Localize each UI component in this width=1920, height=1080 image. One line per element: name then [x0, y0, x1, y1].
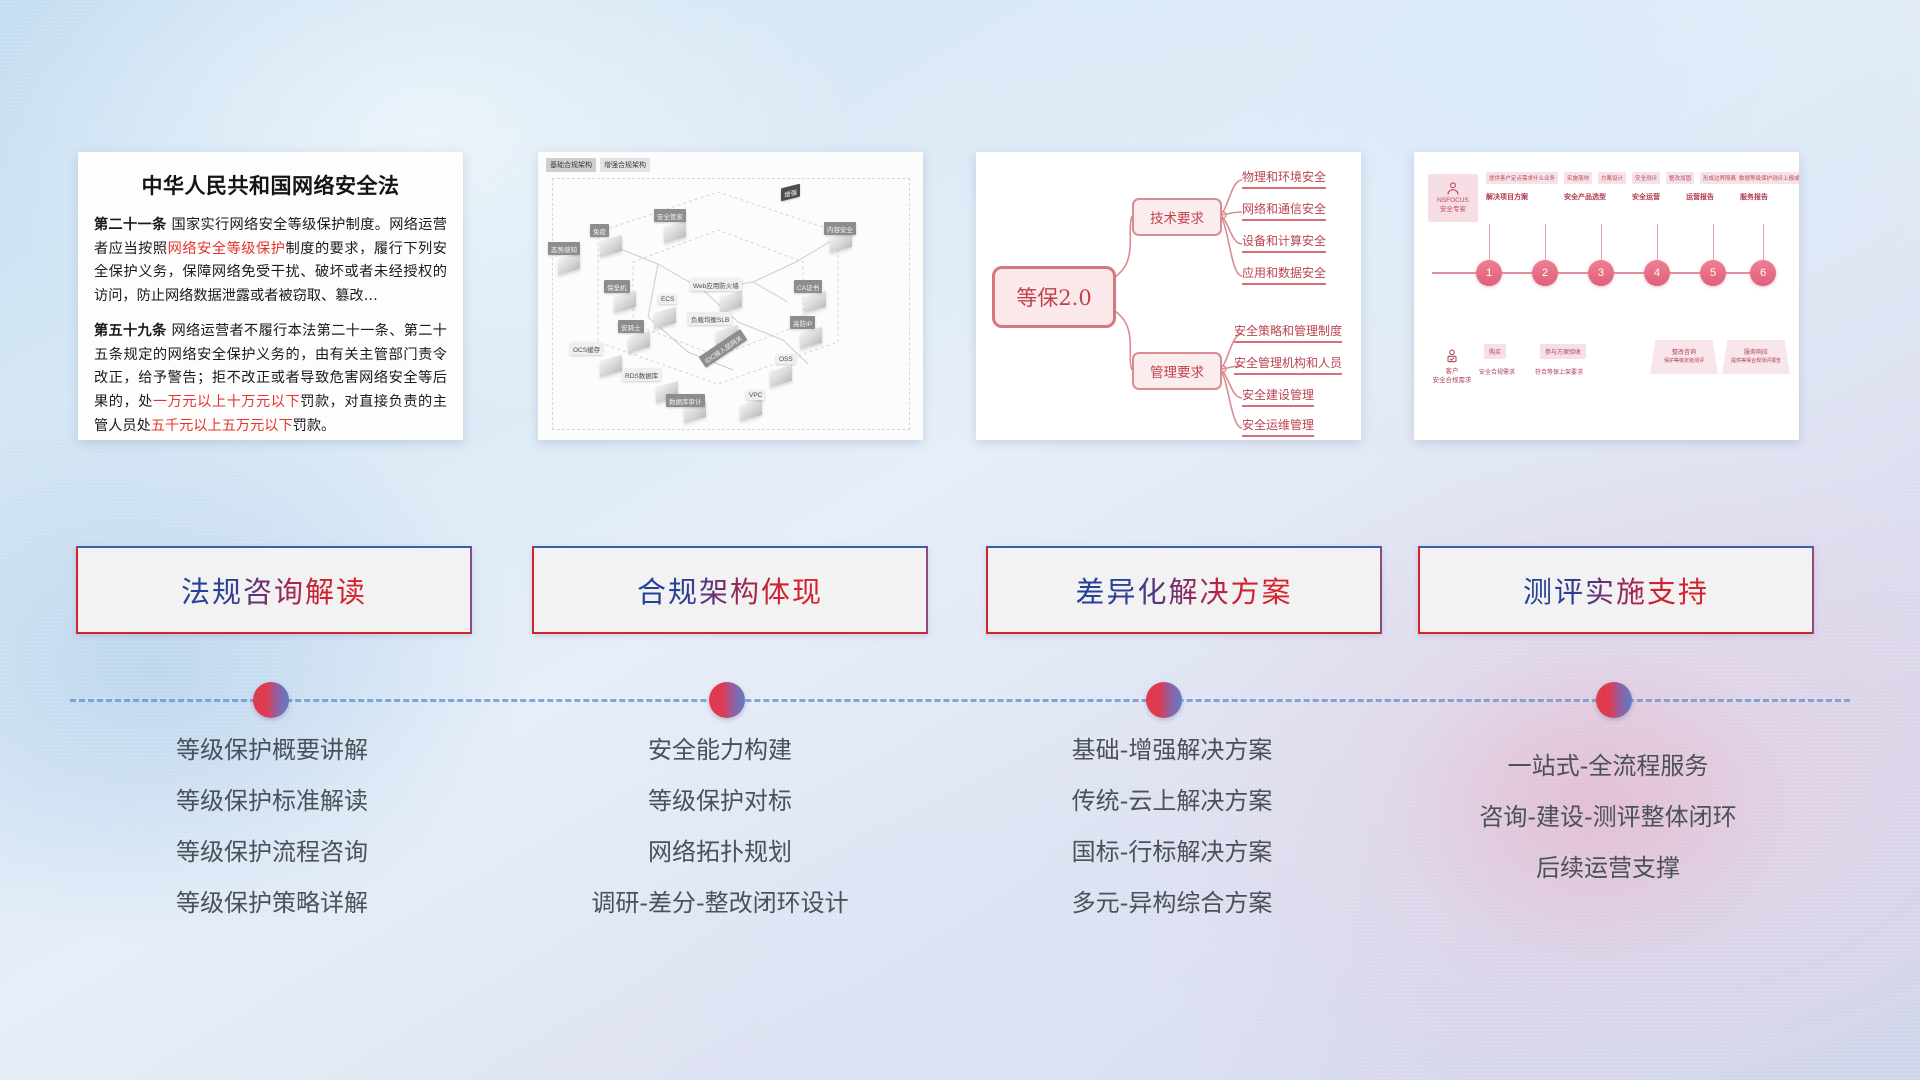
nsfocus-client-sub: 安全合规需求	[1430, 376, 1474, 385]
list-item: 等级保护标准解读	[62, 789, 482, 813]
list-item: 基础-增强解决方案	[962, 738, 1382, 762]
card-djcp-mindmap[interactable]: 等保2.0 技术要求 物理和环境安全 网络和通信安全 设备和计算安全 应用和数据…	[976, 152, 1361, 440]
mindmap-leaf-security-policy: 安全策略和管理制度	[1234, 322, 1342, 343]
nsfocus-trap-service-response: 服务响应 提供等保合规测评报告	[1722, 340, 1790, 374]
law-article-59: 第五十九条 网络运营者不履行本法第二十一条、第二十五条规定的网络安全保护义务的，…	[94, 320, 447, 438]
list-item: 传统-云上解决方案	[962, 789, 1382, 813]
nsfocus-chip-4: 安全测评	[1632, 172, 1660, 184]
nsfocus-lead-5	[1713, 224, 1714, 260]
detail-list-row: 等级保护概要讲解 等级保护标准解读 等级保护流程咨询 等级保护策略详解 安全能力…	[0, 738, 1920, 978]
mindmap-root-node: 等保2.0	[992, 266, 1116, 328]
node-anti-ddos-ip: 高防IP	[790, 316, 815, 329]
nsfocus-head-1: 解决项目方案	[1486, 192, 1528, 202]
node-rds-database: RDS数据库	[622, 368, 661, 381]
mindmap-leaf-construction-management: 安全建设管理	[1242, 386, 1314, 407]
list-item: 等级保护策略详解	[62, 891, 482, 915]
nsfocus-step-5[interactable]: 5	[1700, 260, 1726, 286]
article-59-highlight-b: 五千元以上五万元以下	[151, 418, 293, 434]
node-ca-certificate: CA证书	[794, 280, 822, 293]
tab-basic-architecture[interactable]: 基础合规架构	[546, 158, 596, 172]
section-banner-row: 法规咨询解读 合规架构体现 差异化解决方案 测评实施支持	[0, 546, 1920, 638]
architecture-diagram: 基础合规架构 增强合规架构 增强 安全	[538, 152, 923, 440]
node-oss: OSS	[776, 354, 796, 364]
timeline-dot-3[interactable]	[1146, 682, 1182, 718]
list-item: 安全能力构建	[510, 738, 930, 762]
node-ocs-cache: OCS缓存	[570, 342, 603, 355]
nsfocus-chip-2: 实施落地	[1564, 172, 1592, 184]
detail-column-4: 一站式-全流程服务 咨询-建设-测评整体闭环 后续运营支撑	[1398, 754, 1818, 907]
node-immune: 免疫	[590, 224, 609, 237]
article-59-highlight-a: 一万元以上十万元以下	[153, 394, 300, 410]
nsfocus-lead-3	[1601, 224, 1602, 260]
nsfocus-step-1[interactable]: 1	[1476, 260, 1502, 286]
nsfocus-chip-1: 提供客户定点需求什么业务	[1486, 172, 1558, 184]
card-compliance-architecture[interactable]: 基础合规架构 增强合规架构 增强 安全	[538, 152, 923, 440]
nsfocus-lead-1	[1489, 224, 1490, 260]
banner-differentiated-solution[interactable]: 差异化解决方案	[986, 546, 1382, 634]
nsfocus-pill-purchase: 购买	[1484, 344, 1506, 359]
banner-label-4: 测评实施支持	[1523, 569, 1709, 611]
architecture-tabs: 基础合规架构 增强合规架构	[546, 158, 650, 172]
article-21-highlight: 网络安全等级保护	[168, 241, 286, 257]
list-item: 多元-异构综合方案	[962, 891, 1382, 915]
image-card-row: 中华人民共和国网络安全法 第二十一条 国家实行网络安全等级保护制度。网络运营者应…	[0, 152, 1920, 452]
list-item: 调研-差分-整改闭环设计	[510, 891, 930, 915]
mindmap-branch-technical: 技术要求	[1132, 198, 1222, 236]
node-database-audit: 数据库审计	[666, 394, 705, 407]
nsfocus-head-5: 服务报告	[1740, 192, 1768, 202]
law-document: 中华人民共和国网络安全法 第二十一条 国家实行网络安全等级保护制度。网络运营者应…	[78, 152, 463, 440]
list-item: 等级保护流程咨询	[62, 840, 482, 864]
mindmap: 等保2.0 技术要求 物理和环境安全 网络和通信安全 设备和计算安全 应用和数据…	[976, 152, 1361, 440]
client-person-icon	[1444, 348, 1460, 364]
mindmap-leaf-device-computing: 设备和计算安全	[1242, 232, 1326, 253]
banner-assessment-support[interactable]: 测评实施支持	[1418, 546, 1814, 634]
tab-enhanced-architecture[interactable]: 增强合规架构	[600, 158, 650, 172]
nsfocus-head-2: 安全产品选型	[1564, 192, 1606, 202]
nsfocus-step-2[interactable]: 2	[1532, 260, 1558, 286]
timeline-dot-1[interactable]	[253, 682, 289, 718]
nsfocus-client-label: 客户	[1430, 367, 1474, 376]
nsfocus-client-block: 客户 安全合规需求	[1430, 348, 1474, 385]
card-cybersecurity-law[interactable]: 中华人民共和国网络安全法 第二十一条 国家实行网络安全等级保护制度。网络运营者应…	[78, 152, 463, 440]
article-59-label: 第五十九条	[94, 323, 167, 339]
list-item: 一站式-全流程服务	[1398, 754, 1818, 778]
law-article-21: 第二十一条 国家实行网络安全等级保护制度。网络运营者应当按照网络安全等级保护制度…	[94, 214, 447, 308]
nsfocus-trap-1-sub: 保护等级定级测评	[1664, 358, 1704, 366]
list-item: 网络拓扑规划	[510, 840, 930, 864]
nsfocus-trap-2-title: 服务响应	[1744, 349, 1768, 358]
detail-column-3: 基础-增强解决方案 传统-云上解决方案 国标-行标解决方案 多元-异构综合方案	[962, 738, 1382, 942]
mindmap-leaf-physical-environment: 物理和环境安全	[1242, 168, 1326, 189]
nsfocus-step-6[interactable]: 6	[1750, 260, 1776, 286]
node-security-butler: 安全管家	[654, 209, 686, 222]
node-content-security: 内容安全	[824, 222, 856, 235]
timeline-dashed-line	[70, 699, 1850, 702]
timeline-dot-4[interactable]	[1596, 682, 1632, 718]
banner-compliance-architecture[interactable]: 合规架构体现	[532, 546, 928, 634]
nsfocus-trap-rectification: 整改咨询 保护等级定级测评	[1650, 340, 1718, 374]
node-bastion-host: 保垒机	[604, 280, 630, 293]
nsfocus-chip-7: 数据等级保护测评上报或定级备案	[1736, 172, 1799, 184]
mindmap-branch-management: 管理要求	[1132, 352, 1222, 390]
nsfocus-head-3: 安全运营	[1632, 192, 1660, 202]
nsfocus-pill-acceptance: 参与方案验收	[1540, 344, 1586, 359]
detail-column-1: 等级保护概要讲解 等级保护标准解读 等级保护流程咨询 等级保护策略详解	[62, 738, 482, 942]
law-title: 中华人民共和国网络安全法	[94, 170, 447, 200]
list-item: 咨询-建设-测评整体闭环	[1398, 805, 1818, 829]
node-situational-awareness: 态势感知	[548, 242, 580, 255]
nsfocus-pill-purchase-sub: 安全合规需求	[1474, 364, 1520, 379]
banner-label-3: 差异化解决方案	[1075, 569, 1292, 611]
mindmap-leaf-operation-management: 安全运维管理	[1242, 416, 1314, 437]
nsfocus-step-3[interactable]: 3	[1588, 260, 1614, 286]
node-load-balancer: 负载均衡SLB	[688, 312, 732, 325]
article-21-label: 第二十一条	[94, 217, 167, 233]
banner-regulation-consulting[interactable]: 法规咨询解读	[76, 546, 472, 634]
card-nsfocus-service-timeline[interactable]: NSFOCUS 安全专家 提供客户定点需求什么业务 实施落地 方案设计 安全测评…	[1414, 152, 1799, 440]
nsfocus-diagram: NSFOCUS 安全专家 提供客户定点需求什么业务 实施落地 方案设计 安全测评…	[1414, 152, 1799, 440]
banner-label-2: 合规架构体现	[637, 569, 823, 611]
nsfocus-step-4[interactable]: 4	[1644, 260, 1670, 286]
mindmap-leaf-org-personnel: 安全管理机构和人员	[1234, 354, 1342, 375]
nsfocus-brand-subtitle: 安全专家	[1440, 206, 1466, 215]
node-anqishi: 安骑士	[618, 320, 644, 333]
nsfocus-trap-1-title: 整改咨询	[1672, 349, 1696, 358]
banner-label-1: 法规咨询解读	[181, 569, 367, 611]
expert-person-icon	[1445, 181, 1461, 197]
node-vpc: VPC	[746, 390, 765, 400]
nsfocus-lead-2	[1545, 224, 1546, 260]
node-web-application-firewall: Web应用防火墙	[690, 278, 742, 291]
nsfocus-head-4: 运营报告	[1686, 192, 1714, 202]
list-item: 等级保护对标	[510, 789, 930, 813]
nsfocus-trap-2-sub: 提供等保合规测评报告	[1731, 358, 1781, 366]
node-ecs: ECS	[658, 294, 677, 304]
list-item: 等级保护概要讲解	[62, 738, 482, 762]
nsfocus-lead-6	[1763, 224, 1764, 260]
article-59-text-c: 罚款。	[293, 418, 336, 434]
nsfocus-pill-acceptance-sub: 符合等保上架要求	[1530, 364, 1588, 379]
list-item: 后续运营支撑	[1398, 856, 1818, 880]
mindmap-leaf-network-communication: 网络和通信安全	[1242, 200, 1326, 221]
nsfocus-chip-5: 整改加固	[1666, 172, 1694, 184]
nsfocus-brand-badge: NSFOCUS 安全专家	[1428, 174, 1478, 222]
mindmap-leaf-application-data: 应用和数据安全	[1242, 264, 1326, 285]
nsfocus-brand-name: NSFOCUS	[1437, 197, 1469, 206]
detail-column-2: 安全能力构建 等级保护对标 网络拓扑规划 调研-差分-整改闭环设计	[510, 738, 930, 942]
nsfocus-lead-4	[1657, 224, 1658, 260]
timeline-dot-2[interactable]	[709, 682, 745, 718]
nsfocus-chip-3: 方案设计	[1598, 172, 1626, 184]
list-item: 国标-行标解决方案	[962, 840, 1382, 864]
timeline-row	[0, 670, 1920, 730]
